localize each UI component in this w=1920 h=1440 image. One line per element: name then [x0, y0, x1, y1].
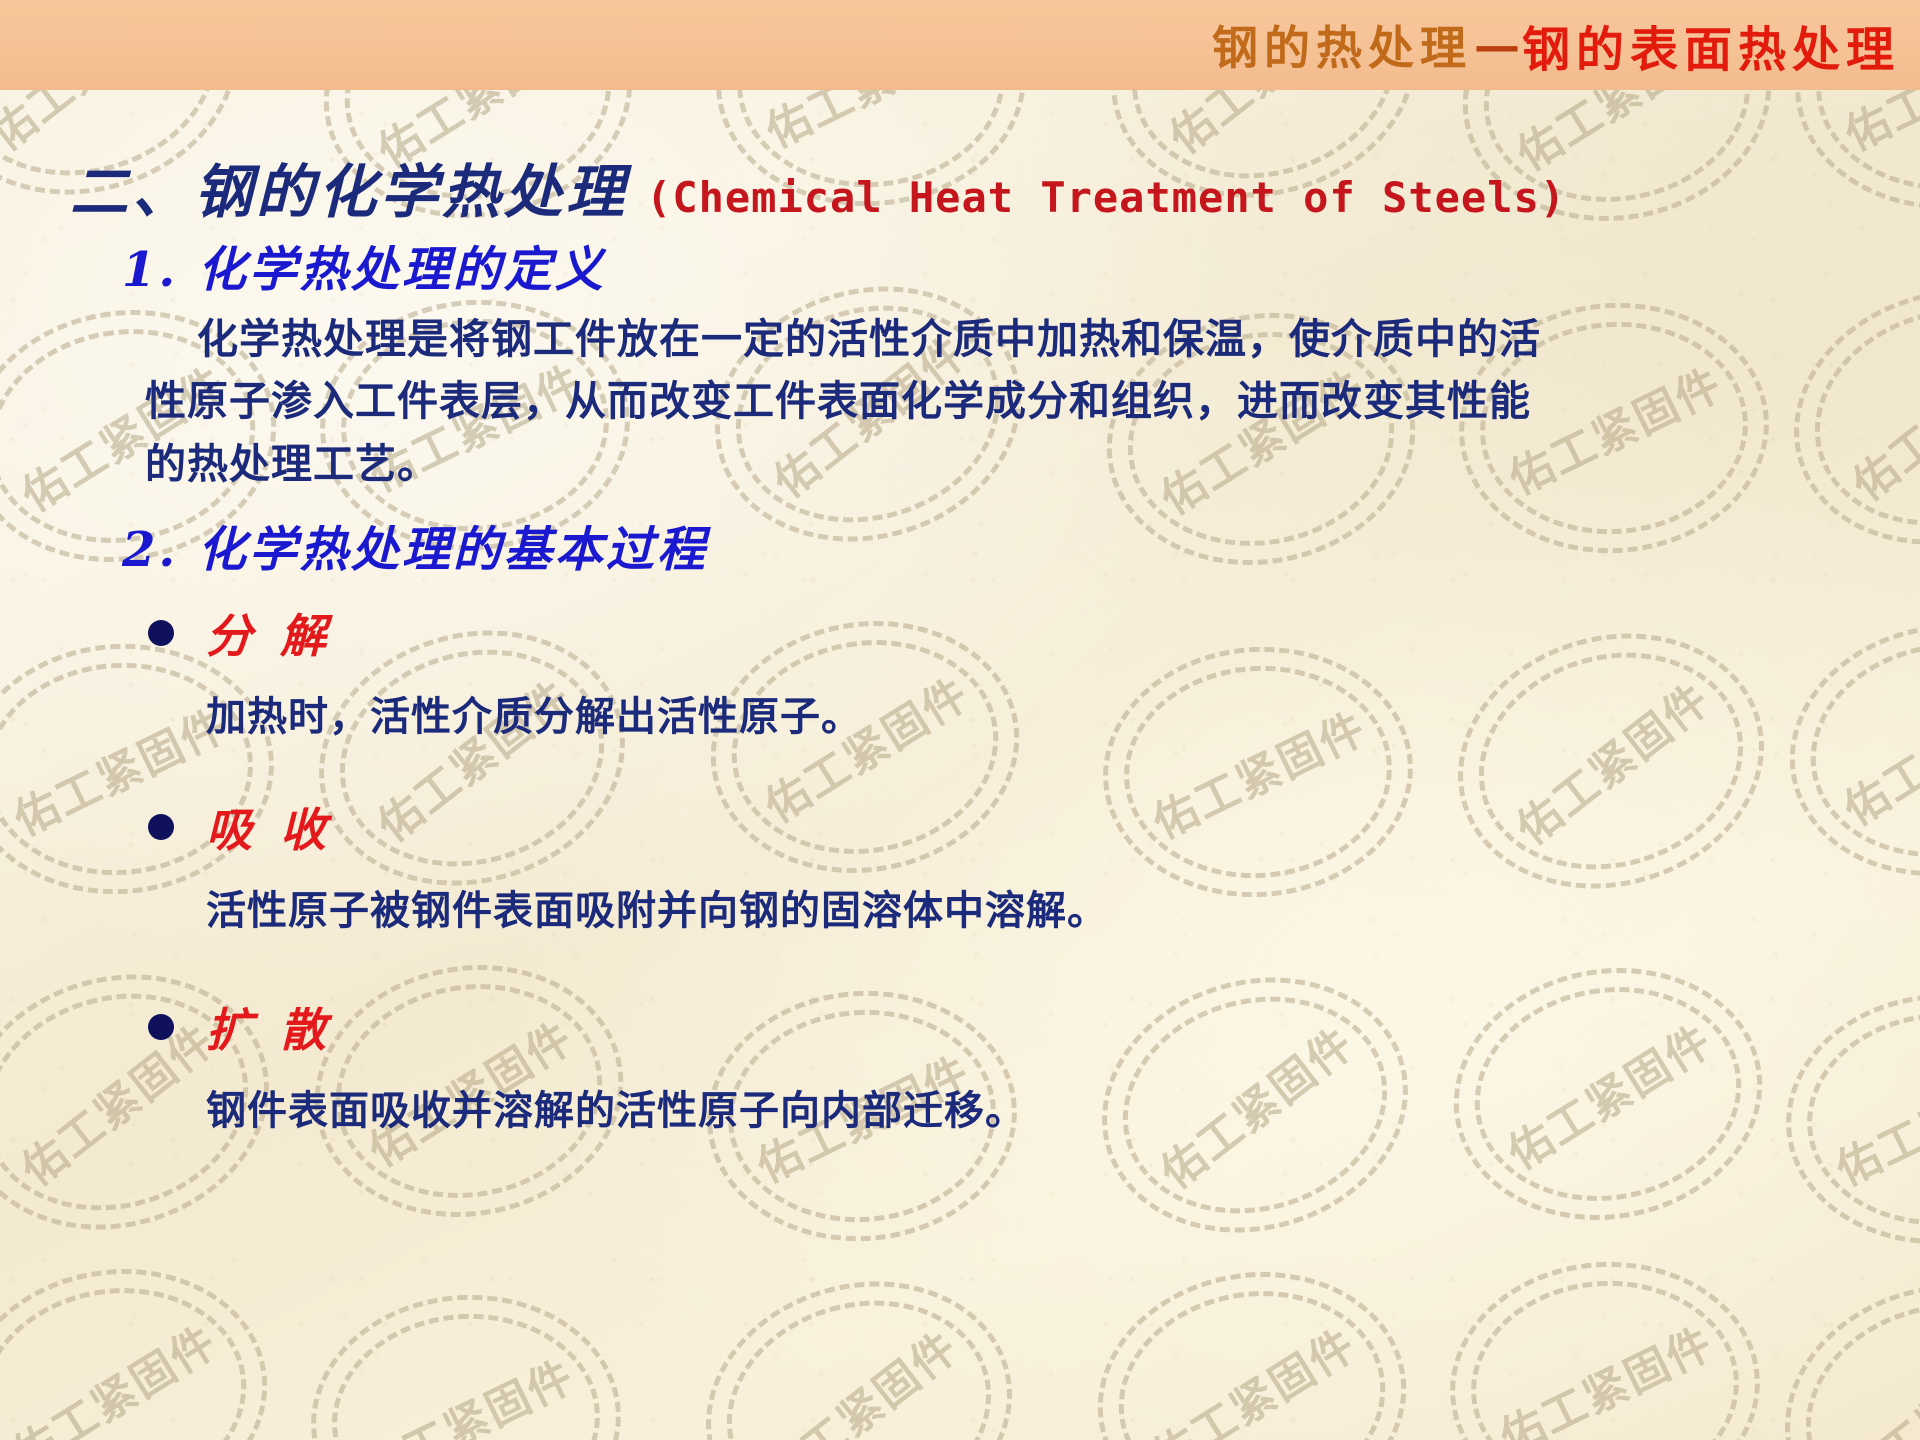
- bullet-head: 扩 散: [148, 994, 1648, 1060]
- subsection-1-heading: 1. 化学热处理的定义: [122, 230, 606, 300]
- section-title-en: (Chemical Heat Treatment of Steels): [646, 173, 1566, 222]
- section-title-cn: 钢的化学热处理: [194, 145, 628, 229]
- header-title-secondary: 钢的表面热处理: [1522, 10, 1900, 80]
- bullet-description: 活性原子被钢件表面吸附并向钢的固溶体中溶解。: [206, 878, 1648, 936]
- subsection-1-paragraph: 化学热处理是将钢工件放在一定的活性介质中加热和保温，使介质中的活性原子渗入工件表…: [145, 308, 1555, 495]
- section-number: 二、: [70, 145, 194, 229]
- bullet-description: 钢件表面吸收并溶解的活性原子向内部迁移。: [206, 1078, 1648, 1136]
- bullet-head: 分 解: [148, 600, 1648, 666]
- bullet-title: 吸 收: [206, 794, 332, 860]
- spacer: [148, 752, 1648, 794]
- process-bullet-list: 分 解 加热时，活性介质分解出活性原子。 吸 收 活性原子被钢件表面吸附并向钢的…: [148, 600, 1648, 1146]
- section-heading: 二、 钢的化学热处理 (Chemical Heat Treatment of S…: [70, 145, 1566, 229]
- spacer: [148, 946, 1648, 994]
- slide-canvas: 佑工紧固件佑工紧固件佑工紧固件佑工紧固件佑工紧固件佑工紧固件佑工紧固件佑工紧固件…: [0, 0, 1920, 1440]
- slide-content: 二、 钢的化学热处理 (Chemical Heat Treatment of S…: [0, 90, 1920, 1440]
- bullet-dot-icon: [148, 620, 174, 646]
- subsection-2-heading: 2. 化学热处理的基本过程: [122, 510, 708, 580]
- header-title-group: 钢的热处理 — 钢的表面热处理: [1212, 0, 1900, 90]
- list-item: 扩 散 钢件表面吸收并溶解的活性原子向内部迁移。: [148, 994, 1648, 1136]
- list-item: 分 解 加热时，活性介质分解出活性原子。: [148, 600, 1648, 742]
- bullet-title: 扩 散: [206, 994, 332, 1060]
- bullet-description: 加热时，活性介质分解出活性原子。: [206, 684, 1648, 742]
- bullet-head: 吸 收: [148, 794, 1648, 860]
- header-title-dash: —: [1474, 18, 1520, 72]
- list-item: 吸 收 活性原子被钢件表面吸附并向钢的固溶体中溶解。: [148, 794, 1648, 936]
- header-title-primary: 钢的热处理: [1212, 12, 1472, 78]
- slide-header-bar: 钢的热处理 — 钢的表面热处理: [0, 0, 1920, 90]
- bullet-title: 分 解: [206, 600, 332, 666]
- bullet-dot-icon: [148, 814, 174, 840]
- bullet-dot-icon: [148, 1014, 174, 1040]
